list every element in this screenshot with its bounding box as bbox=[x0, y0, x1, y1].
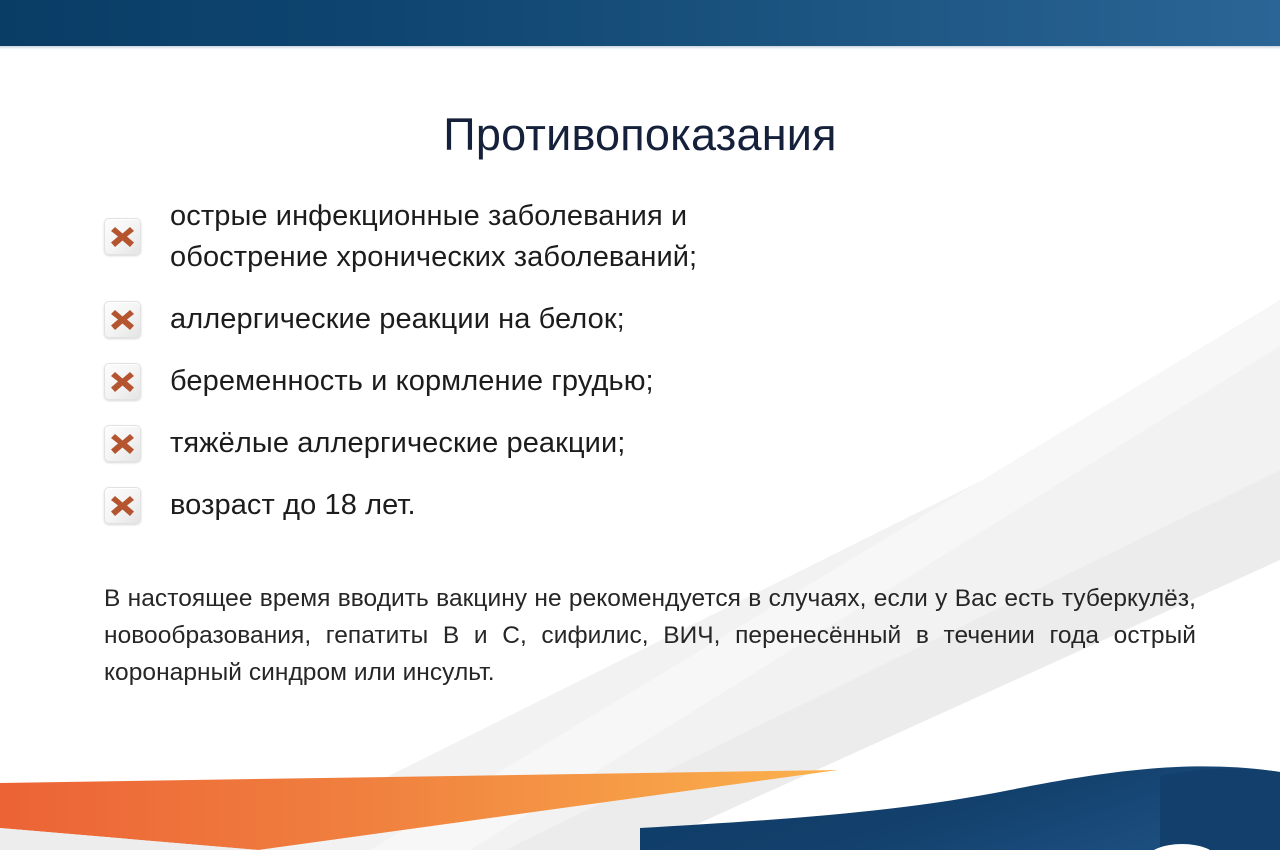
list-item-label: беременность и кормление грудью; bbox=[170, 361, 654, 402]
list-item-label: возраст до 18 лет. bbox=[170, 485, 416, 526]
slide-content: Противопоказания острые инфекционные заб… bbox=[0, 0, 1280, 850]
list-item: острые инфекционные заболевания и обостр… bbox=[104, 196, 1164, 278]
list-item: беременность и кормление грудью; bbox=[104, 361, 1164, 402]
list-item-label: острые инфекционные заболевания и обостр… bbox=[170, 196, 697, 278]
contraindications-list: острые инфекционные заболевания и обостр… bbox=[104, 196, 1164, 526]
slide-canvas: Противопоказания острые инфекционные заб… bbox=[0, 0, 1280, 850]
note-paragraph: В настоящее время вводить вакцину не рек… bbox=[104, 580, 1196, 691]
cross-mark-icon bbox=[104, 487, 141, 524]
page-title: Противопоказания bbox=[0, 108, 1280, 162]
cross-mark-icon bbox=[104, 425, 141, 462]
cross-mark-icon bbox=[104, 363, 141, 400]
list-item-label: тяжёлые аллергические реакции; bbox=[170, 423, 625, 464]
list-item-label: аллергические реакции на белок; bbox=[170, 299, 625, 340]
list-item: возраст до 18 лет. bbox=[104, 485, 1164, 526]
cross-mark-icon bbox=[104, 218, 141, 255]
list-item: тяжёлые аллергические реакции; bbox=[104, 423, 1164, 464]
cross-mark-icon bbox=[104, 301, 141, 338]
list-item: аллергические реакции на белок; bbox=[104, 299, 1164, 340]
